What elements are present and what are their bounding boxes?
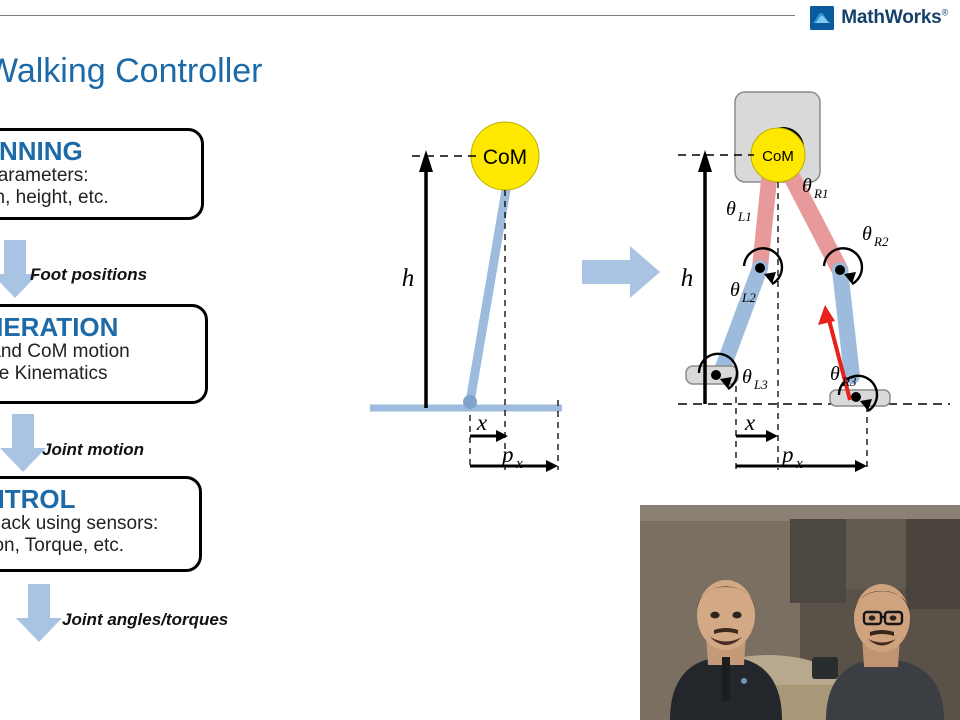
joint-l3-dot xyxy=(711,370,721,380)
theta-L3-label: θ L3 xyxy=(742,366,768,392)
webcam-thumbnail[interactable] xyxy=(640,505,960,720)
flow-box-planning: PLANNING Gait parameters: Length, height… xyxy=(0,128,204,220)
flow-box-control-line-2: Position, Torque, etc. xyxy=(0,535,189,557)
flow-box-planning-line-1: Gait parameters: xyxy=(0,165,191,187)
theta-L2-base: θ xyxy=(730,279,740,301)
walking-model-diagram: CoM h x p x CoM h x p x θ L1 θ L2 xyxy=(330,70,960,500)
red-force-arrow-head xyxy=(818,305,835,325)
flow-box-generation-line-2: Inverse Kinematics xyxy=(0,363,195,385)
page-title: Walking Controller xyxy=(0,52,263,91)
flow-box-control-title: CONTROL xyxy=(0,485,189,513)
right-px-sub: x xyxy=(795,456,803,472)
inverted-pendulum-leg-icon xyxy=(470,190,506,402)
x-arrow-head xyxy=(496,430,508,442)
diagram-svg: CoM h x p x CoM h x p x θ L1 θ L2 xyxy=(330,70,960,500)
flow-box-planning-title: PLANNING xyxy=(0,137,191,165)
flow-box-control-line-1: Feedback using sensors: xyxy=(0,513,189,535)
theta-R1-base: θ xyxy=(802,175,812,197)
theta-R1-sub: R1 xyxy=(813,186,828,201)
right-model-group xyxy=(678,92,950,472)
theta-L1-label: θ L1 xyxy=(726,198,752,224)
px-arrow-head xyxy=(546,460,558,472)
webcam-video-frame xyxy=(640,505,960,720)
theta-R2-sub: R2 xyxy=(873,234,889,249)
right-px-base: p xyxy=(780,442,794,467)
height-arrow-head-right xyxy=(698,150,712,172)
brand-label: MathWorks® xyxy=(841,7,948,29)
theta-R2-label: θ R2 xyxy=(862,223,889,249)
height-arrow-head xyxy=(419,150,433,172)
x-arrow-head-right xyxy=(766,430,778,442)
mathworks-brand: MathWorks® xyxy=(810,6,948,30)
theta-R3-sub: R3 xyxy=(841,374,857,389)
connector-label-joint-angles-torques: Joint angles/torques xyxy=(62,610,228,630)
flow-box-generation-title: GENERATION xyxy=(0,313,195,341)
right-leg-lower-icon xyxy=(840,270,852,376)
left-com-label: CoM xyxy=(483,146,527,169)
px-arrow-head-right xyxy=(855,460,867,472)
theta-L1-base: θ xyxy=(726,198,736,220)
left-model-group xyxy=(370,122,562,472)
right-com-label: CoM xyxy=(762,148,794,165)
theta-L3-base: θ xyxy=(742,366,752,388)
brand-registered-mark: ® xyxy=(942,8,948,18)
brand-name-text: MathWorks xyxy=(841,7,941,28)
right-arrow-icon xyxy=(582,246,660,298)
theta-L3-sub: L3 xyxy=(753,377,768,392)
left-leg-lower-icon xyxy=(722,268,760,370)
joint-r2-dot xyxy=(835,265,845,275)
left-px-sub: x xyxy=(515,456,523,472)
joint-l2-dot xyxy=(755,263,765,273)
mathworks-membrane-icon xyxy=(810,6,834,30)
theta-L2-sub: L2 xyxy=(741,290,756,305)
left-leg-upper-red-icon xyxy=(760,170,770,268)
flow-box-generation-line-1: Foot and CoM motion xyxy=(0,341,195,363)
theta-R3-base: θ xyxy=(830,363,840,385)
flow-box-control: CONTROL Feedback using sensors: Position… xyxy=(0,476,202,572)
flow-box-generation: GENERATION Foot and CoM motion Inverse K… xyxy=(0,304,208,404)
left-height-label: h xyxy=(402,265,415,292)
foot-pivot-icon xyxy=(463,395,477,409)
left-x-label: x xyxy=(476,410,488,435)
theta-L1-sub: L1 xyxy=(737,209,752,224)
right-height-label: h xyxy=(681,265,694,292)
theta-R2-base: θ xyxy=(862,223,872,245)
flow-box-planning-line-2: Length, height, etc. xyxy=(0,187,191,209)
left-px-base: p xyxy=(500,442,514,467)
joint-r3-dot xyxy=(851,392,861,402)
slide-canvas: MathWorks® Walking Controller PLANNING G… xyxy=(0,0,960,720)
connector-label-joint-motion: Joint motion xyxy=(42,440,144,460)
header-divider xyxy=(0,15,795,16)
connector-label-foot-positions: Foot positions xyxy=(30,265,147,285)
right-x-label: x xyxy=(744,410,756,435)
